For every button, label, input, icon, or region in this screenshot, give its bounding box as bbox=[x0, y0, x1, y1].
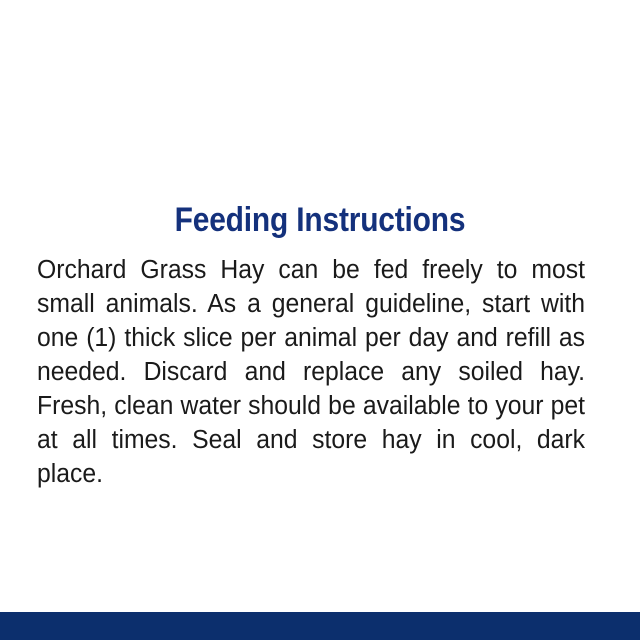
footer-accent-bar bbox=[0, 612, 640, 640]
feeding-instructions-paragraph: Orchard Grass Hay can be fed freely to m… bbox=[37, 253, 585, 525]
page-title: Feeding Instructions bbox=[38, 201, 601, 239]
product-info-panel: Feeding Instructions Orchard Grass Hay c… bbox=[0, 0, 640, 640]
